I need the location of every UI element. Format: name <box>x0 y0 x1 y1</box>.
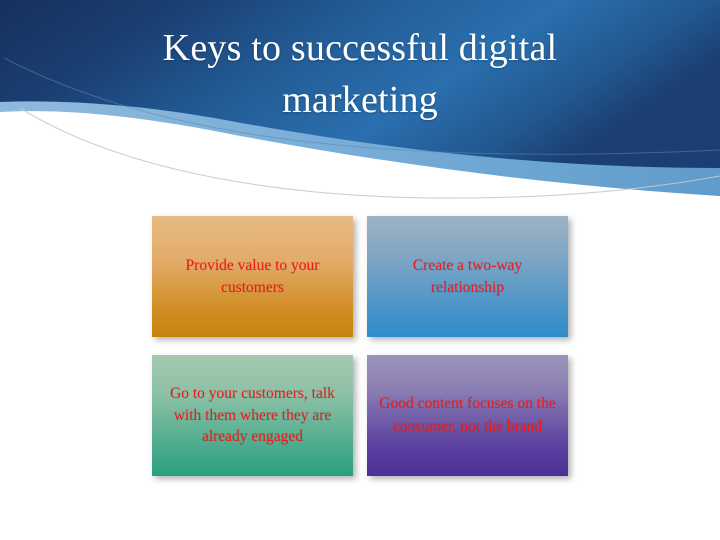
key-box-label: Good content focuses on the consumer, no… <box>367 393 568 438</box>
key-box-label: Create a two-way relationship <box>367 255 568 298</box>
slide-title-line-1: Keys to successful digital <box>60 22 660 74</box>
key-box-two-way-relationship[interactable]: Create a two-way relationship <box>367 216 568 337</box>
key-points-grid: Provide value to your customers Create a… <box>152 216 568 476</box>
slide-title-line-2: marketing <box>60 74 660 126</box>
slide-title: Keys to successful digital marketing <box>60 22 660 126</box>
key-box-go-to-customers[interactable]: Go to your customers, talk with them whe… <box>152 355 353 476</box>
key-box-good-content[interactable]: Good content focuses on the consumer, no… <box>367 355 568 476</box>
key-box-label: Provide value to your customers <box>152 255 353 298</box>
key-box-label: Go to your customers, talk with them whe… <box>152 383 353 448</box>
key-box-provide-value[interactable]: Provide value to your customers <box>152 216 353 337</box>
presentation-slide: Keys to successful digital marketing Pro… <box>0 0 720 540</box>
